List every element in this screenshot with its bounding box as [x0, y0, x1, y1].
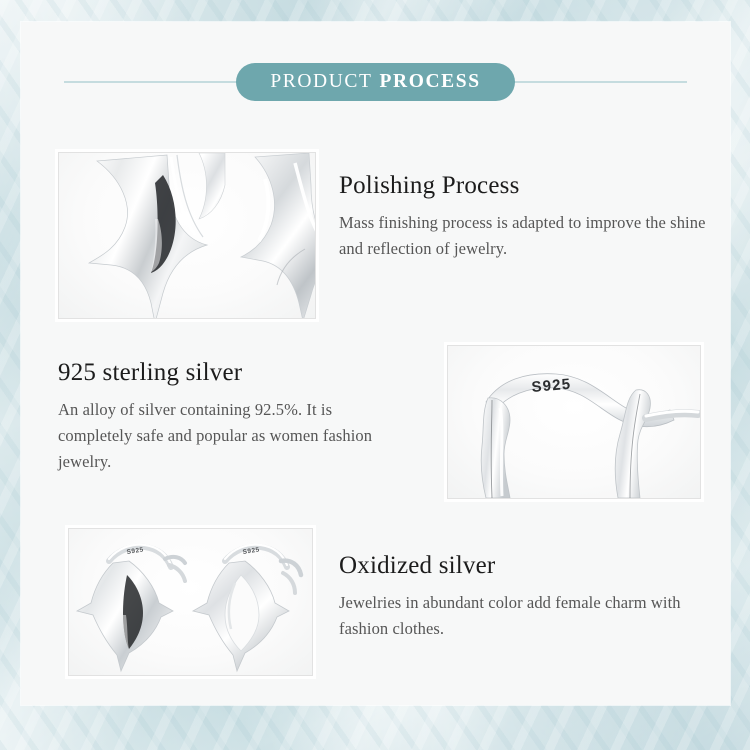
banner: PRODUCTPROCESS: [21, 60, 730, 104]
section-oxidized-silver: Oxidized silver Jewelries in abundant co…: [339, 552, 689, 642]
product-photo-s925-stamp: S925: [447, 345, 701, 499]
poster-background: PRODUCTPROCESS: [0, 0, 750, 750]
section-body-sterling-silver: An alloy of silver containing 92.5%. It …: [58, 397, 388, 475]
earring-pair-illustration: S925 S925: [69, 529, 312, 675]
banner-pill: PRODUCTPROCESS: [236, 63, 514, 102]
section-heading-oxidized-silver: Oxidized silver: [339, 552, 689, 580]
s925-hallmark-illustration: S925: [448, 346, 700, 498]
polishing-earring-illustration: [59, 153, 315, 318]
banner-title-light: PRODUCT: [270, 71, 372, 92]
s925-stamp-text: S925: [531, 376, 572, 396]
section-body-oxidized-silver: Jewelries in abundant color add female c…: [339, 590, 689, 642]
section-sterling-silver: 925 sterling silver An alloy of silver c…: [58, 359, 388, 475]
section-heading-polishing: Polishing Process: [339, 172, 711, 200]
product-photo-polishing: [58, 152, 316, 319]
s925-stamp-right: S925: [242, 546, 260, 556]
section-heading-sterling-silver: 925 sterling silver: [58, 359, 388, 387]
banner-rule-left: [64, 81, 250, 83]
section-body-polishing: Mass finishing process is adapted to imp…: [339, 210, 711, 262]
section-polishing: Polishing Process Mass finishing process…: [339, 172, 711, 262]
product-photo-oxidized-pair: S925 S925: [68, 528, 313, 676]
banner-rule-right: [501, 81, 687, 83]
content-card: PRODUCTPROCESS: [21, 22, 730, 705]
banner-title-bold: PROCESS: [380, 71, 481, 92]
s925-stamp-left: S925: [126, 546, 144, 556]
